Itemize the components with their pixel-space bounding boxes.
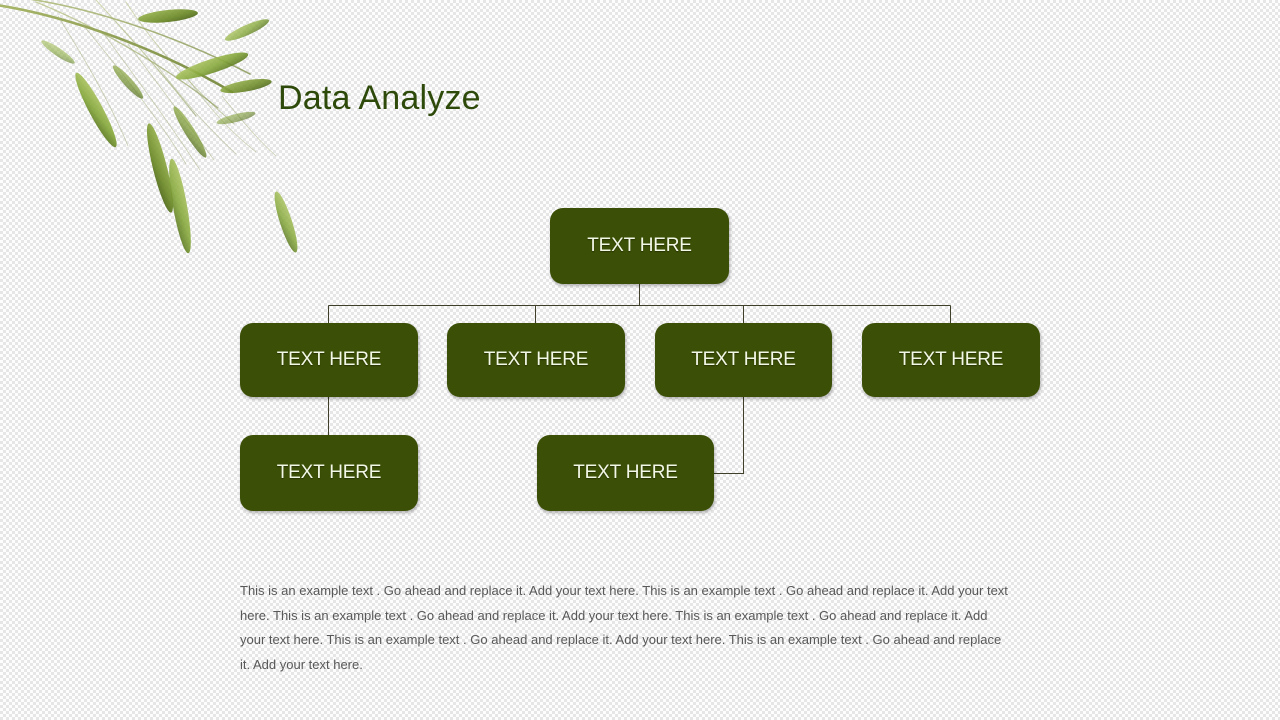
node-label: TEXT HERE [691,349,795,371]
page-title: Data Analyze [278,79,481,118]
node-label: TEXT HERE [277,462,381,484]
node-label: TEXT HERE [573,462,677,484]
diagram-node-child-2[interactable]: TEXT HERE [447,323,625,397]
diagram-node-child-3[interactable]: TEXT HERE [655,323,832,397]
bamboo-branch-decoration [0,0,340,300]
node-label: TEXT HERE [587,235,691,257]
node-label: TEXT HERE [277,349,381,371]
diagram-node-leaf-1[interactable]: TEXT HERE [240,435,418,511]
node-label: TEXT HERE [484,349,588,371]
diagram-node-root[interactable]: TEXT HERE [550,208,729,284]
diagram-node-child-4[interactable]: TEXT HERE [862,323,1040,397]
diagram-node-leaf-2[interactable]: TEXT HERE [537,435,714,511]
node-label: TEXT HERE [899,349,1003,371]
body-paragraph: This is an example text . Go ahead and r… [240,579,1012,677]
diagram-node-child-1[interactable]: TEXT HERE [240,323,418,397]
slide-canvas: Data Analyze TEXT HERE TEXT HERE TEXT HE… [0,0,1280,720]
